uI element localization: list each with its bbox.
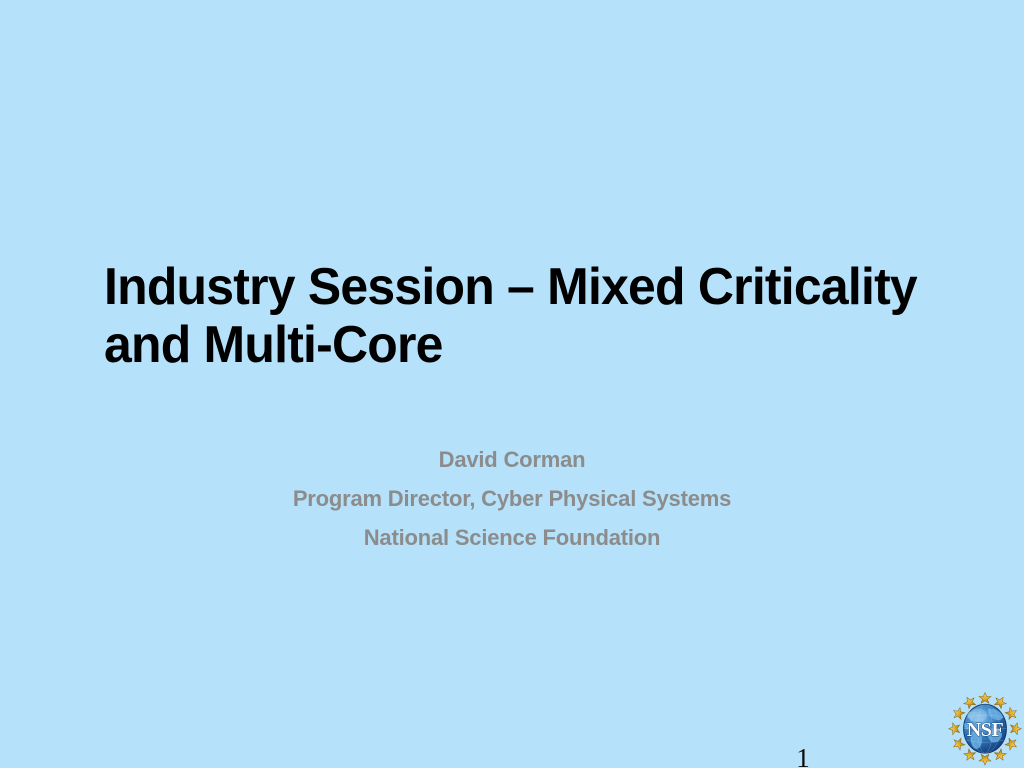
title-placeholder: Industry Session – Mixed Criticality and… — [104, 258, 960, 374]
slide-canvas: Industry Session – Mixed Criticality and… — [0, 0, 1024, 768]
page-title: Industry Session – Mixed Criticality and… — [104, 258, 926, 374]
subtitle-placeholder: David Corman Program Director, Cyber Phy… — [112, 440, 912, 557]
slide-number: 1 — [760, 744, 846, 768]
nsf-logo-graphic: NSF — [948, 691, 1022, 768]
nsf-logo: NSF — [948, 691, 1022, 768]
nsf-wordmark: NSF — [967, 719, 1004, 741]
subtitle-line-role: Program Director, Cyber Physical Systems — [112, 479, 912, 518]
subtitle-line-organization: National Science Foundation — [112, 518, 912, 557]
subtitle-line-presenter: David Corman — [112, 440, 912, 479]
